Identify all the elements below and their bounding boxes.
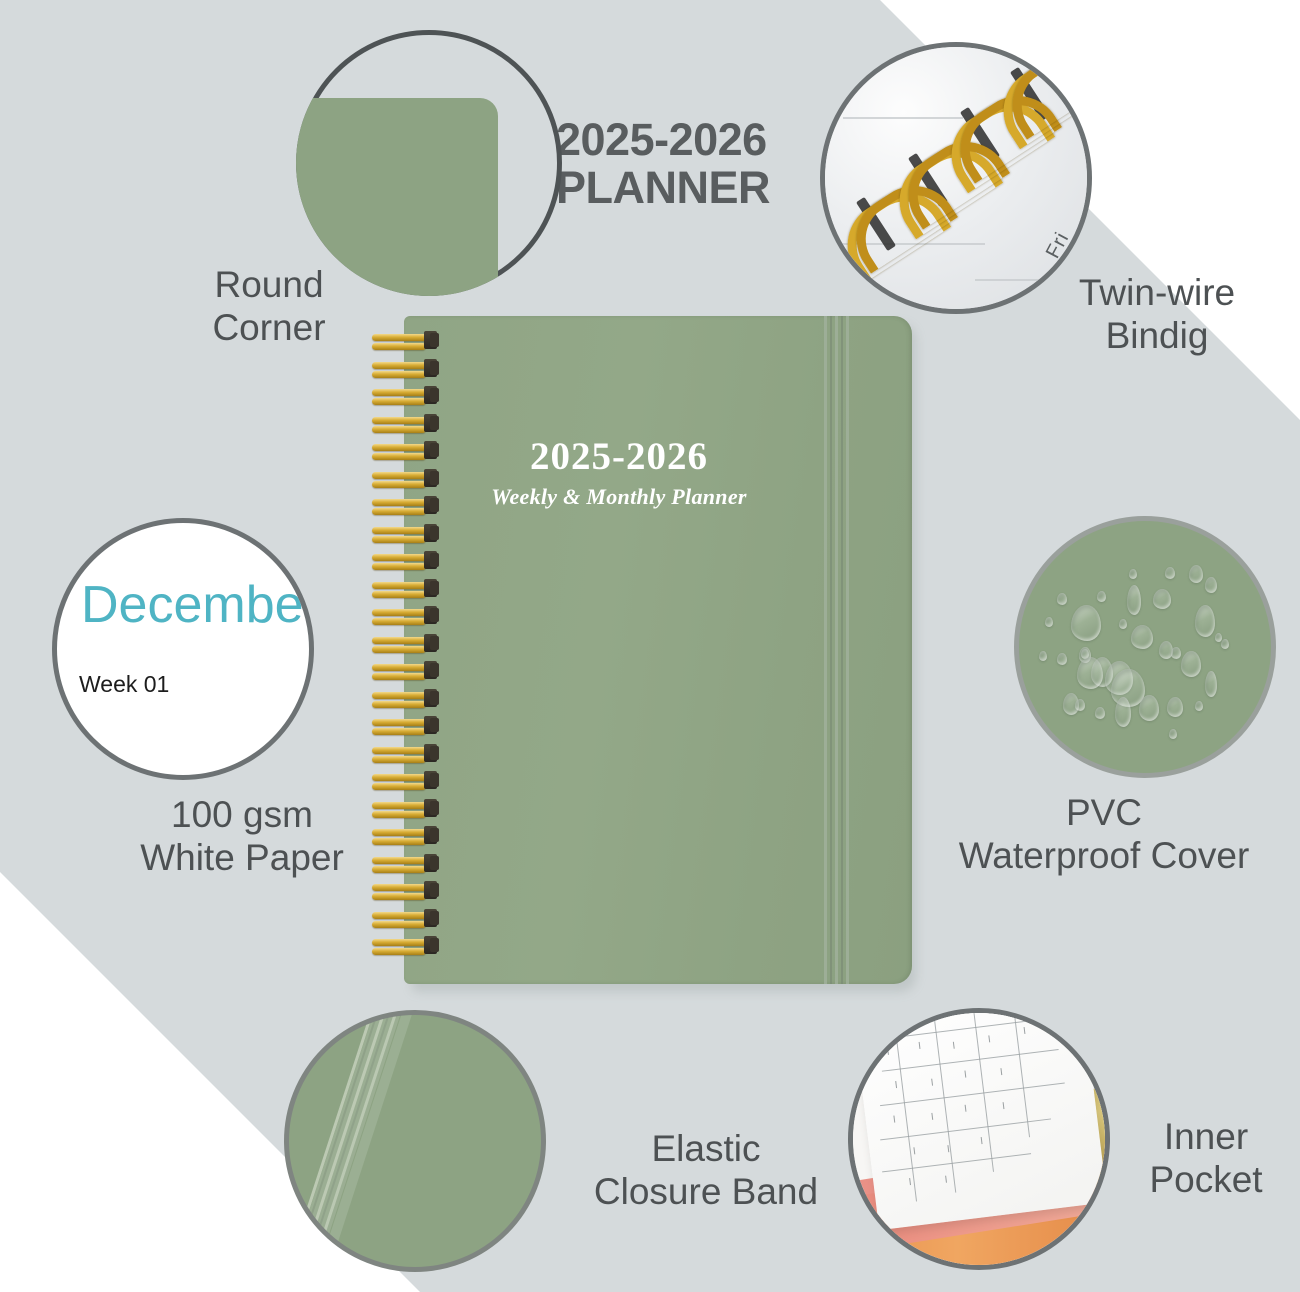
- spiral-coil: [372, 495, 448, 517]
- label-line-2: Closure Band: [506, 1171, 906, 1214]
- spiral-coil: [372, 633, 448, 655]
- spiral-coil: [372, 440, 448, 462]
- spiral-coil: [372, 468, 448, 490]
- gold-wire-photo-icon: Fri 27: [825, 47, 1087, 309]
- spiral-coil: [372, 605, 448, 627]
- feature-circle-inner-pocket: VISA: [848, 1008, 1110, 1270]
- cover-elastic-stripe: [830, 316, 832, 984]
- page-title: 2025-2026 PLANNER: [556, 116, 836, 211]
- pocket-photo-icon: VISA: [853, 1013, 1105, 1265]
- label-line-1: Round: [84, 264, 454, 307]
- cover-elastic-stripe: [824, 316, 827, 984]
- spiral-coil: [372, 578, 448, 600]
- spiral-coil: [372, 825, 448, 847]
- feature-label-white-paper: 100 gsm White Paper: [62, 794, 422, 880]
- feature-circle-white-paper: December Week 01: [52, 518, 314, 780]
- label-line-2: Bindig: [1012, 315, 1300, 358]
- calendar-month-label: December: [81, 575, 314, 635]
- calendar-week-label: Week 01: [79, 671, 169, 698]
- spiral-coil: [372, 688, 448, 710]
- spiral-coil: [372, 880, 448, 902]
- label-line-2: White Paper: [62, 837, 422, 880]
- rounded-corner-swatch-icon: [296, 30, 562, 296]
- label-line-1: Inner: [1106, 1116, 1300, 1159]
- feature-label-pvc-waterproof: PVC Waterproof Cover: [908, 792, 1300, 878]
- spiral-coil: [372, 523, 448, 545]
- spiral-coil: [372, 550, 448, 572]
- spiral-coil: [372, 935, 448, 957]
- spiral-coil: [372, 385, 448, 407]
- feature-circle-round-corner: [296, 30, 562, 296]
- cover-elastic-stripe: [841, 316, 843, 984]
- cover-title: 2025-2026: [404, 434, 834, 479]
- spiral-coil: [372, 358, 448, 380]
- infographic-canvas: 2025-2026 PLANNER Round Corner: [0, 0, 1300, 1292]
- headline-year: 2025-2026: [556, 116, 836, 164]
- label-line-2: Waterproof Cover: [908, 835, 1300, 878]
- cover-elastic-stripe: [835, 316, 838, 984]
- label-line-1: PVC: [908, 792, 1300, 835]
- label-line-1: Twin-wire: [1012, 272, 1300, 315]
- feature-label-inner-pocket: Inner Pocket: [1106, 1116, 1300, 1202]
- label-line-1: 100 gsm: [62, 794, 422, 837]
- book-cover: 2025-2026 Weekly & Monthly Planner: [404, 316, 912, 984]
- elastic-band-stripes-icon: [289, 1015, 541, 1267]
- cover-elastic-stripe: [846, 316, 849, 984]
- label-line-1: Elastic: [506, 1128, 906, 1171]
- water-droplets-icon: [1019, 521, 1271, 773]
- spiral-coil: [372, 743, 448, 765]
- spiral-coil: [372, 798, 448, 820]
- label-line-2: Pocket: [1106, 1159, 1300, 1202]
- feature-circle-pvc-waterproof: [1014, 516, 1276, 778]
- spiral-coil: [372, 770, 448, 792]
- spiral-coil: [372, 715, 448, 737]
- planner-product-image: 2025-2026 Weekly & Monthly Planner: [404, 316, 912, 988]
- spiral-binding: [372, 330, 448, 970]
- spiral-coil: [372, 853, 448, 875]
- feature-label-elastic-band: Elastic Closure Band: [506, 1128, 906, 1214]
- feature-label-twin-wire: Twin-wire Bindig: [1012, 272, 1300, 358]
- headline-product: PLANNER: [556, 164, 836, 212]
- spiral-coil: [372, 908, 448, 930]
- map-page: [852, 1008, 1107, 1230]
- spiral-coil: [372, 330, 448, 352]
- spiral-coil: [372, 660, 448, 682]
- cover-subtitle: Weekly & Monthly Planner: [404, 484, 834, 510]
- spiral-coil: [372, 413, 448, 435]
